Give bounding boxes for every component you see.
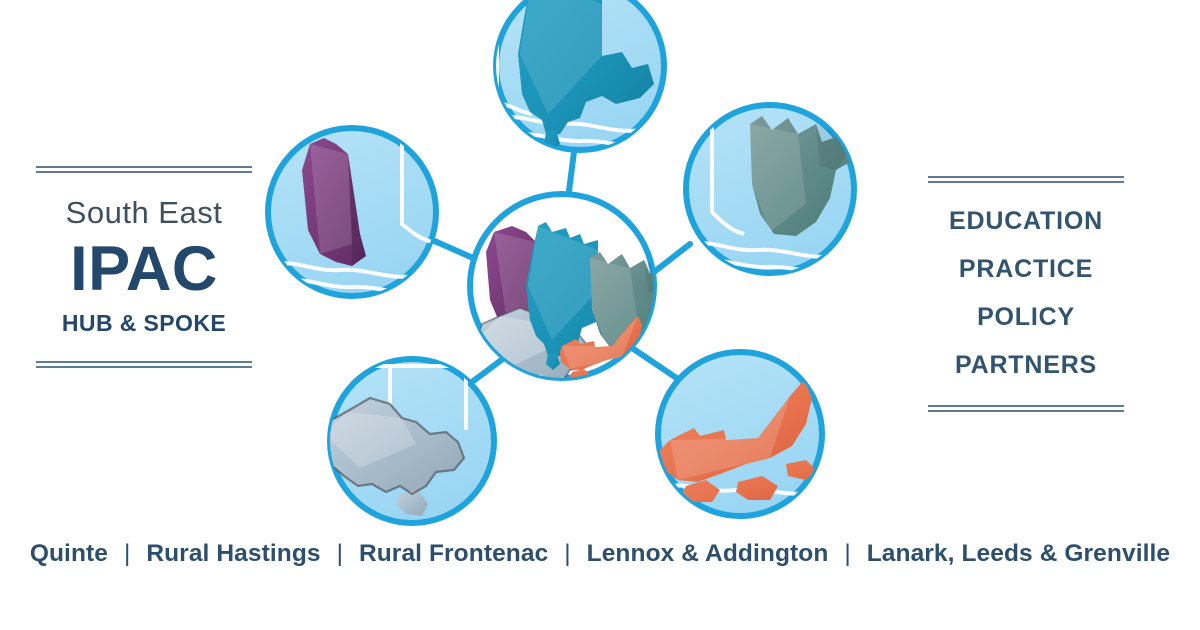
pillars-bottom-rule	[928, 405, 1124, 410]
spoke-rural-hastings[interactable]	[268, 128, 436, 296]
region-caption: Quinte | Rural Hastings | Rural Frontena…	[0, 540, 1200, 568]
hub-south-east[interactable]	[470, 194, 678, 406]
caption-separator-1: |	[115, 540, 139, 567]
pillar-policy: POLICY	[928, 293, 1124, 341]
caption-separator-4: |	[835, 540, 859, 567]
brand-bottom-rule	[36, 361, 252, 366]
pillars-top-rule	[928, 176, 1124, 181]
caption-region-rural-hastings: Rural Hastings	[146, 540, 320, 567]
caption-separator-2: |	[328, 540, 352, 567]
brand-top-rule	[36, 166, 252, 171]
brand-block: South East IPAC HUB & SPOKE	[36, 166, 252, 366]
pillar-education: EDUCATION	[928, 197, 1124, 245]
caption-region-rural-frontenac: Rural Frontenac	[359, 540, 548, 567]
caption-region-lanark-leeds-and-grenville: Lanark, Leeds & Grenville	[867, 540, 1170, 567]
spoke-lanark-leeds-and-grenville[interactable]	[658, 352, 822, 516]
brand-tagline: HUB & SPOKE	[36, 312, 252, 335]
caption-region-lennox-and-addington: Lennox & Addington	[587, 540, 829, 567]
pillar-partners: PARTNERS	[928, 341, 1124, 389]
brand-title: IPAC	[36, 236, 252, 302]
caption-region-quinte: Quinte	[30, 540, 108, 567]
brand-subtitle: South East	[36, 197, 252, 228]
pillar-practice: PRACTICE	[928, 245, 1124, 293]
poster-canvas: South East IPAC HUB & SPOKE EDUCATION PR…	[0, 0, 1200, 630]
pillars-list: EDUCATION PRACTICE POLICY PARTNERS	[928, 181, 1124, 405]
pillars-block: EDUCATION PRACTICE POLICY PARTNERS	[928, 176, 1124, 410]
spoke-quinte[interactable]	[496, 0, 674, 150]
spoke-rural-frontenac[interactable]	[686, 105, 856, 273]
caption-separator-3: |	[555, 540, 579, 567]
connector-bottom-right	[632, 348, 678, 379]
hub-and-spoke-diagram	[250, 0, 910, 534]
